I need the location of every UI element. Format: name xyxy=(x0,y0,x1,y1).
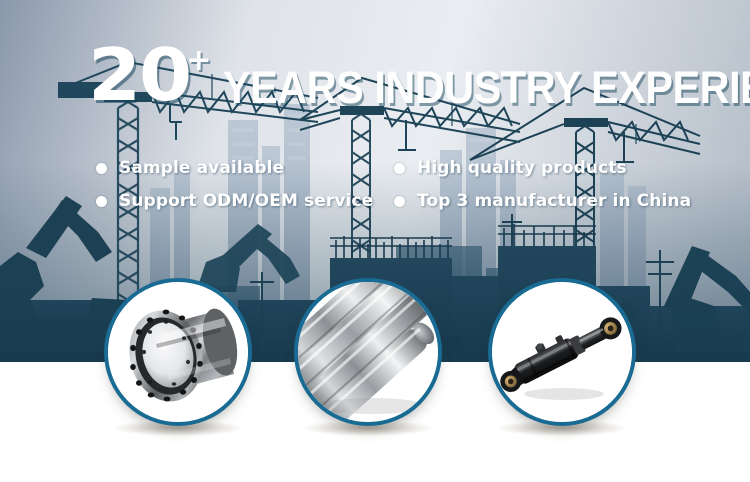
product-circles xyxy=(0,0,750,482)
steel-flange-pipe-image xyxy=(108,282,248,422)
stainless-steel-round-bars-image xyxy=(298,282,438,422)
hydraulic-cylinder-image xyxy=(492,282,632,422)
product-circle-stainless-steel-bars[interactable] xyxy=(294,278,442,426)
promo-banner: 20 + YEARS INDUSTRY EXPERIENCE Sample av… xyxy=(0,0,750,482)
product-circle-steel-flange-pipe[interactable] xyxy=(104,278,252,426)
product-circle-hydraulic-cylinder[interactable] xyxy=(488,278,636,426)
